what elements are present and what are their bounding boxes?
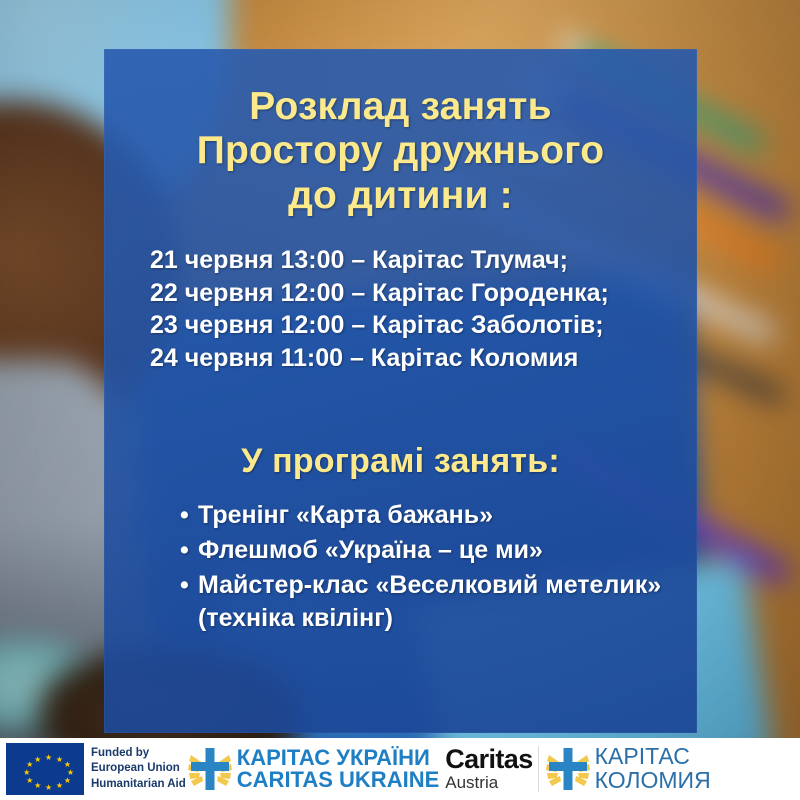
program-item-label: Флешмоб «Україна – це ми» [198, 534, 667, 567]
schedule-item: 24 червня 11:00 – Карітас Коломия [150, 342, 697, 375]
poster-title-line-2: Простору дружнього [197, 129, 604, 173]
caritas-austria-logo: Caritas Austria [445, 746, 532, 793]
schedule-item: 22 червня 12:00 – Карітас Городенка; [150, 277, 697, 310]
caritas-austria-country: Austria [445, 773, 532, 793]
program-item-label: Тренінг «Карта бажань» [198, 499, 667, 532]
caritas-ukraine-line-en: CARITAS UKRAINE [237, 769, 439, 791]
list-item: • Флешмоб «Україна – це ми» [180, 534, 667, 567]
program-item-label: Майстер-клас «Веселковий метелик» (техні… [198, 569, 667, 635]
caritas-kolomyia-logo: КАРІТАС КОЛОМИЯ [544, 745, 711, 793]
eu-stars-circle: ★ ★ ★ ★ ★ ★ ★ ★ ★ ★ ★ ★ [6, 743, 84, 795]
bullet-icon: • [180, 499, 198, 532]
eu-funding-text: Funded by European Union Humanitarian Ai… [91, 746, 186, 792]
eu-text-line-2: European Union [91, 761, 186, 776]
program-list: • Тренінг «Карта бажань» • Флешмоб «Укра… [104, 499, 697, 637]
caritas-kolomyia-line-1: КАРІТАС [595, 745, 711, 769]
list-item: • Майстер-клас «Веселковий метелик» (тех… [180, 569, 667, 635]
content-panel: Розклад занять Простору дружнього до дит… [104, 49, 697, 733]
caritas-ukraine-text: КАРІТАС УКРАЇНИ CARITAS UKRAINE [237, 747, 439, 792]
schedule-item: 21 червня 13:00 – Карітас Тлумач; [150, 244, 697, 277]
poster-title-line-1: Розклад занять [197, 85, 604, 129]
caritas-kolomyia-line-2: КОЛОМИЯ [595, 769, 711, 793]
poster-title: Розклад занять Простору дружнього до дит… [197, 85, 604, 218]
caritas-ukraine-line-ua: КАРІТАС УКРАЇНИ [237, 747, 439, 769]
caritas-kolomyia-text: КАРІТАС КОЛОМИЯ [595, 745, 711, 793]
schedule-list: 21 червня 13:00 – Карітас Тлумач; 22 чер… [104, 244, 697, 374]
caritas-cross-icon [186, 745, 234, 793]
list-item: • Тренінг «Карта бажань» [180, 499, 667, 532]
caritas-ukraine-logo: КАРІТАС УКРАЇНИ CARITAS UKRAINE [186, 745, 439, 793]
program-heading: У програмі занять: [241, 442, 560, 481]
eu-funding-logo: ★ ★ ★ ★ ★ ★ ★ ★ ★ ★ ★ ★ Funded by Europe… [0, 743, 186, 795]
bullet-icon: • [180, 534, 198, 567]
poster-title-line-3: до дитини : [197, 174, 604, 218]
caritas-cross-icon [544, 745, 592, 793]
schedule-item: 23 червня 12:00 – Карітас Заболотів; [150, 309, 697, 342]
footer-logo-bar: ★ ★ ★ ★ ★ ★ ★ ★ ★ ★ ★ ★ Funded by Europe… [0, 738, 800, 800]
eu-text-line-3: Humanitarian Aid [91, 777, 186, 792]
poster: Розклад занять Простору дружнього до дит… [0, 0, 800, 800]
eu-flag-icon: ★ ★ ★ ★ ★ ★ ★ ★ ★ ★ ★ ★ [6, 743, 84, 795]
bullet-icon: • [180, 569, 198, 602]
caritas-austria-wordmark: Caritas [445, 746, 532, 773]
eu-text-line-1: Funded by [91, 746, 186, 761]
logo-divider [538, 746, 539, 792]
